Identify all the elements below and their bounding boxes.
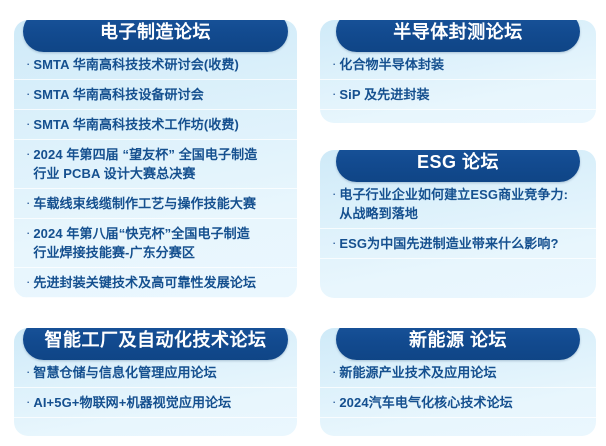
card-esg-forum: ESG 论坛 · 电子行业企业如何建立ESG商业竞争力: 从战略到落地 · ES…	[320, 150, 596, 298]
card-electronics-header-pill: 电子制造论坛	[23, 20, 288, 52]
card-smart-factory-list: · 智慧仓储与信息化管理应用论坛 · AI+5G+物联网+机器视觉应用论坛	[14, 358, 297, 418]
bullet-icon: ·	[26, 114, 33, 133]
card-new-energy-title: 新能源 论坛	[409, 331, 507, 349]
card-electronics-forum: 电子制造论坛 · SMTA 华南高科技技术研讨会(收费) · SMTA 华南高科…	[14, 20, 297, 298]
card-semiconductor-list: · 化合物半导体封装 · SiP 及先进封装	[320, 50, 596, 110]
list-item[interactable]: · 先进封装关键技术及高可靠性发展论坛	[14, 268, 297, 298]
list-item-label: SMTA 华南高科技技术研讨会(收费)	[33, 55, 287, 74]
list-item[interactable]: · 2024 年第四届 “望友杯” 全国电子制造 行业 PCBA 设计大赛总决赛	[14, 140, 297, 189]
card-electronics-title: 电子制造论坛	[100, 23, 211, 41]
bullet-icon: ·	[26, 84, 33, 103]
list-item[interactable]: · 新能源产业技术及应用论坛	[320, 358, 596, 388]
list-item[interactable]: · 智慧仓储与信息化管理应用论坛	[14, 358, 297, 388]
list-item[interactable]: · 车载线束线缆制作工艺与操作技能大赛	[14, 189, 297, 219]
list-item-label: AI+5G+物联网+机器视觉应用论坛	[33, 393, 287, 412]
bullet-icon: ·	[332, 184, 339, 203]
list-item[interactable]: · SiP 及先进封装	[320, 80, 596, 110]
card-esg-list: · 电子行业企业如何建立ESG商业竞争力: 从战略到落地 · ESG为中国先进制…	[320, 180, 596, 259]
card-semiconductor-forum: 半导体封测论坛 · 化合物半导体封装 · SiP 及先进封装	[320, 20, 596, 123]
list-item[interactable]: · SMTA 华南高科技技术研讨会(收费)	[14, 50, 297, 80]
list-item[interactable]: · SMTA 华南高科技设备研讨会	[14, 80, 297, 110]
list-item[interactable]: · AI+5G+物联网+机器视觉应用论坛	[14, 388, 297, 418]
list-item-label: SMTA 华南高科技技术工作坊(收费)	[33, 115, 287, 134]
list-item-label: ESG为中国先进制造业带来什么影响?	[339, 234, 586, 253]
list-item[interactable]: · ESG为中国先进制造业带来什么影响?	[320, 229, 596, 259]
bullet-icon: ·	[26, 223, 33, 242]
card-smart-factory-header-pill: 智能工厂及自动化技术论坛	[23, 328, 288, 360]
bullet-icon: ·	[332, 392, 339, 411]
bullet-icon: ·	[26, 193, 33, 212]
list-item-label: 车载线束线缆制作工艺与操作技能大赛	[33, 194, 287, 213]
bullet-icon: ·	[26, 54, 33, 73]
list-item[interactable]: · 化合物半导体封装	[320, 50, 596, 80]
card-electronics-list: · SMTA 华南高科技技术研讨会(收费) · SMTA 华南高科技设备研讨会 …	[14, 50, 297, 298]
card-semiconductor-title: 半导体封测论坛	[393, 23, 523, 41]
bullet-icon: ·	[26, 144, 33, 163]
card-smart-factory-title: 智能工厂及自动化技术论坛	[45, 331, 267, 349]
list-item-label: 智慧仓储与信息化管理应用论坛	[33, 363, 287, 382]
list-item-label: 先进封装关键技术及高可靠性发展论坛	[33, 273, 287, 292]
list-item[interactable]: · SMTA 华南高科技技术工作坊(收费)	[14, 110, 297, 140]
bullet-icon: ·	[26, 362, 33, 381]
list-item-label: 电子行业企业如何建立ESG商业竞争力: 从战略到落地	[339, 185, 586, 223]
list-item-label: 2024汽车电气化核心技术论坛	[339, 393, 586, 412]
list-item-label: 2024 年第四届 “望友杯” 全国电子制造 行业 PCBA 设计大赛总决赛	[33, 145, 287, 183]
list-item-label: 2024 年第八届“快克杯”全国电子制造 行业焊接技能赛-广东分赛区	[33, 224, 287, 262]
bullet-icon: ·	[26, 392, 33, 411]
bullet-icon: ·	[332, 362, 339, 381]
card-semiconductor-header-pill: 半导体封测论坛	[336, 20, 580, 52]
card-new-energy-list: · 新能源产业技术及应用论坛 · 2024汽车电气化核心技术论坛	[320, 358, 596, 418]
list-item-label: 化合物半导体封装	[339, 55, 586, 74]
bullet-icon: ·	[332, 84, 339, 103]
list-item-label: SMTA 华南高科技设备研讨会	[33, 85, 287, 104]
list-item-label: SiP 及先进封装	[339, 85, 586, 104]
list-item[interactable]: · 2024 年第八届“快克杯”全国电子制造 行业焊接技能赛-广东分赛区	[14, 219, 297, 268]
card-smart-factory-forum: 智能工厂及自动化技术论坛 · 智慧仓储与信息化管理应用论坛 · AI+5G+物联…	[14, 328, 297, 436]
card-esg-header-pill: ESG 论坛	[336, 150, 580, 182]
bullet-icon: ·	[26, 272, 33, 291]
bullet-icon: ·	[332, 54, 339, 73]
forum-cards-board: 电子制造论坛 · SMTA 华南高科技技术研讨会(收费) · SMTA 华南高科…	[0, 0, 606, 446]
list-item-label: 新能源产业技术及应用论坛	[339, 363, 586, 382]
card-new-energy-forum: 新能源 论坛 · 新能源产业技术及应用论坛 · 2024汽车电气化核心技术论坛	[320, 328, 596, 436]
list-item[interactable]: · 2024汽车电气化核心技术论坛	[320, 388, 596, 418]
card-esg-title: ESG 论坛	[417, 153, 499, 171]
list-item[interactable]: · 电子行业企业如何建立ESG商业竞争力: 从战略到落地	[320, 180, 596, 229]
card-new-energy-header-pill: 新能源 论坛	[336, 328, 580, 360]
bullet-icon: ·	[332, 233, 339, 252]
